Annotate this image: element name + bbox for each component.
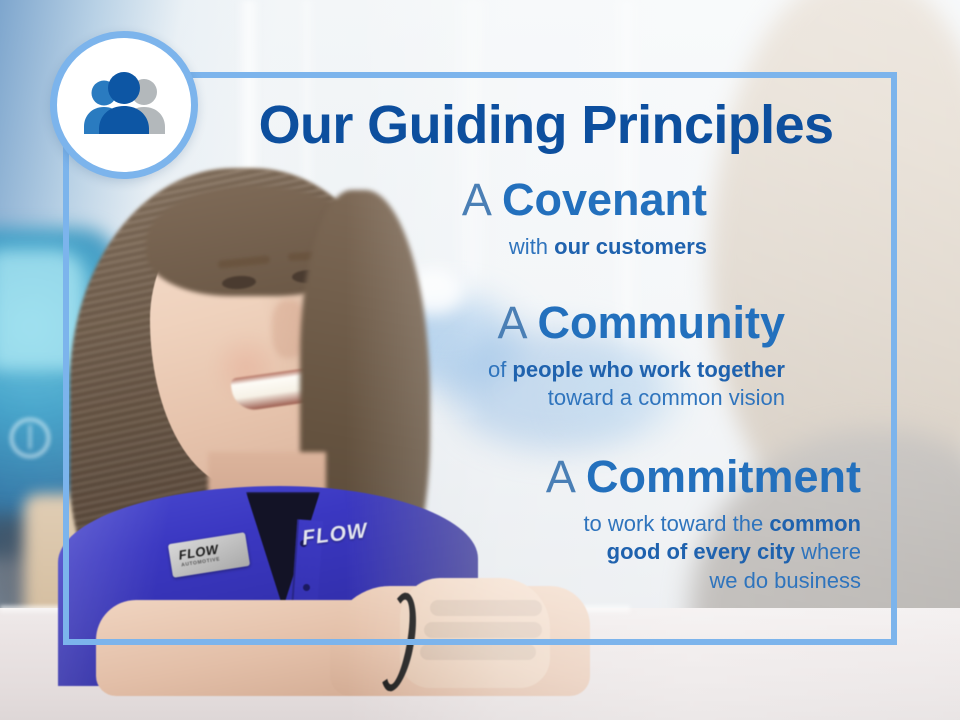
subtext-regular: of <box>488 357 512 382</box>
principle-heading: A Community <box>488 300 785 347</box>
principle-commitment: A Commitment to work toward the common g… <box>546 454 861 596</box>
subtext-regular: with <box>509 234 554 259</box>
subtext-regular: toward a common vision <box>548 385 785 410</box>
principle-word: Commitment <box>586 451 861 502</box>
subtext-bold: our customers <box>554 234 707 259</box>
principle-community: A Community of people who work together … <box>488 300 785 413</box>
principle-article: A <box>497 297 525 348</box>
subtext-bold: good of every city <box>607 539 795 564</box>
principle-word: Community <box>538 297 786 348</box>
principle-word: Covenant <box>502 174 707 225</box>
text-content: Our Guiding Principles A Covenant with o… <box>63 72 897 645</box>
subtext-regular: to work toward the <box>583 511 769 536</box>
finger <box>420 644 536 660</box>
principle-covenant: A Covenant with our customers <box>462 177 707 261</box>
principle-article: A <box>462 174 490 225</box>
subtext-bold: people who work together <box>512 357 785 382</box>
principle-subtext: to work toward the common good of every … <box>546 510 861 596</box>
page-title: Our Guiding Principles <box>63 97 879 154</box>
principle-subtext: of people who work together toward a com… <box>488 356 785 413</box>
principle-heading: A Commitment <box>546 454 861 501</box>
guiding-principles-poster: FLOW AUTOMOTIVE FLOW <box>0 0 960 720</box>
principle-article: A <box>546 451 574 502</box>
subtext-regular: where <box>795 539 861 564</box>
subtext-regular: we do business <box>709 568 861 593</box>
principle-heading: A Covenant <box>462 177 707 224</box>
principle-subtext: with our customers <box>462 233 707 262</box>
subtext-bold: common <box>769 511 861 536</box>
